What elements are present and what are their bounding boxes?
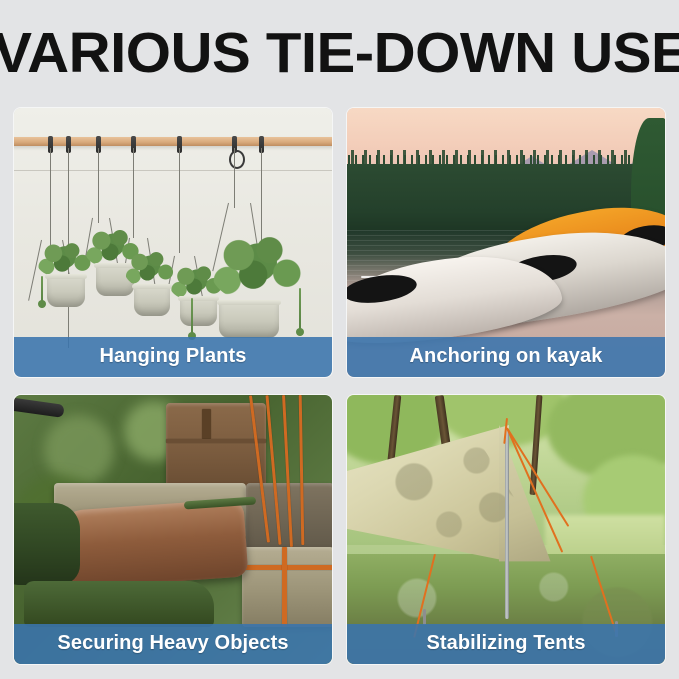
tent-stake <box>423 609 426 625</box>
hanging-cord <box>234 148 235 208</box>
trailing-vine <box>299 288 301 336</box>
hanging-cord <box>133 148 134 238</box>
plant-pot <box>47 274 85 307</box>
case-latch <box>202 409 211 439</box>
wooden-rod <box>14 137 332 146</box>
card-caption: Securing Heavy Objects <box>14 624 332 664</box>
motorcycle-frame <box>24 581 214 627</box>
handlebar <box>14 397 65 418</box>
hanging-cord <box>50 148 51 248</box>
bungee-cord <box>242 565 332 570</box>
image-grid: Hanging Plants <box>14 108 665 664</box>
card-caption: Hanging Plants <box>14 337 332 377</box>
card-hanging-plants[interactable]: Hanging Plants <box>14 108 332 377</box>
tent-pole <box>505 429 509 619</box>
plant-pot <box>134 284 170 316</box>
hanging-cord <box>98 148 99 223</box>
fuel-tank <box>14 503 80 585</box>
plant-pot <box>219 300 279 338</box>
page-title: VARIOUS TIE-DOWN USES <box>0 22 679 90</box>
carabiner-icon <box>229 150 245 169</box>
card-anchoring-on-kayak[interactable]: Anchoring on kayak <box>347 108 665 377</box>
luggage-case-bottom <box>242 547 332 627</box>
case-strap <box>166 439 266 443</box>
trailing-vine <box>41 276 43 308</box>
card-stabilizing-tents[interactable]: Stabilizing Tents <box>347 395 665 664</box>
hanging-cord <box>179 148 180 253</box>
card-caption: Anchoring on kayak <box>347 337 665 377</box>
card-securing-heavy-objects[interactable]: Securing Heavy Objects <box>14 395 332 664</box>
wall-trim-line <box>14 170 332 171</box>
card-caption: Stabilizing Tents <box>347 624 665 664</box>
infographic-page: VARIOUS TIE-DOWN USES <box>0 0 679 679</box>
bungee-cord <box>282 547 287 627</box>
motorcycle-seat <box>54 498 249 589</box>
plant-pot <box>180 296 217 326</box>
trailing-vine <box>191 298 193 340</box>
plant-foliage <box>210 230 306 302</box>
